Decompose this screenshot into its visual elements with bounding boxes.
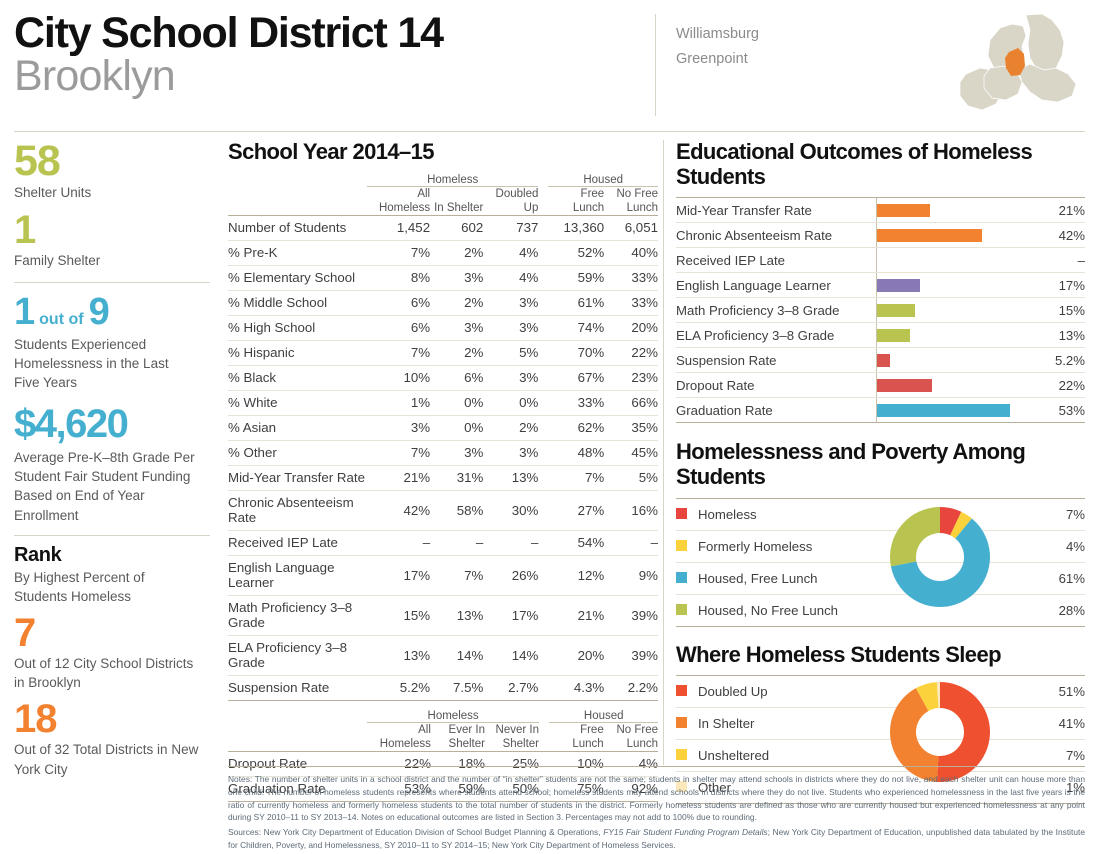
one-out-of-connector: out of [39,311,83,329]
one-out-of-label: Students Experienced Homelessness in the… [14,335,189,392]
bar [877,229,982,242]
bar-baseline [876,323,877,347]
legend-label: Housed, No Free Lunch [698,594,878,626]
table-row: % Asian3%0%2%62%35% [228,415,658,440]
table-cell: 7% [430,555,483,595]
right-charts-column: Educational Outcomes of Homeless Student… [676,140,1085,804]
bar-baseline [876,198,877,222]
table-group-header-row: Homeless Housed [228,174,658,186]
bar-label: Dropout Rate [676,373,876,398]
table-gap [538,415,548,440]
bar-label: Received IEP Late [676,248,876,273]
table-cell: – [430,530,483,555]
legend-label: Housed, Free Lunch [698,562,878,594]
legend-row: In Shelter41% [676,708,1085,740]
row-label: % Pre-K [228,240,367,265]
one-out-of-numerator: 1 [14,291,34,334]
legend-swatch-icon [676,717,687,728]
table-cell: 0% [483,390,538,415]
educational-outcomes-heading: Educational Outcomes of Homeless Student… [676,140,1085,189]
bar-cell [876,348,1034,373]
table-gap [538,315,548,340]
legend-spacer [878,676,1033,708]
group-header-homeless-2: Homeless [367,710,539,722]
bar-cell [876,223,1034,248]
one-out-of-denominator: 9 [89,291,109,334]
table-cell: 67% [548,365,604,390]
table-row: Mid-Year Transfer Rate21%31%13%7%5% [228,465,658,490]
borough-subtitle: Brooklyn [14,54,443,99]
table-cell: 2.2% [604,675,658,700]
notes-rule [228,766,1085,767]
table-cell: 10% [367,365,430,390]
legend-swatch-icon [676,540,687,551]
row-label: % Black [228,365,367,390]
table-row: % Pre-K7%2%4%52%40% [228,240,658,265]
table-cell: 33% [604,290,658,315]
row-label: Received IEP Late [228,530,367,555]
table-cell: 39% [604,635,658,675]
sources-italic-title: FY15 Fair Student Funding Program Detail… [603,827,767,837]
bar-cell [876,373,1034,398]
table-cell: 6,051 [604,215,658,240]
col-free-lunch: Free Lunch [548,187,604,216]
table-cell: 74% [548,315,604,340]
header-vertical-divider [655,14,656,116]
bar-cell [876,273,1034,298]
bar-cell [876,248,1034,273]
row-label: % Hispanic [228,340,367,365]
table-gap [538,290,548,315]
table-cell: 7% [367,440,430,465]
table-cell: 40% [604,240,658,265]
rank-block: Rank By Highest Percent of Students Home… [14,544,210,779]
table-gap [538,595,548,635]
bar-chart-row: Dropout Rate22% [676,373,1085,398]
col2-all-homeless: All Homeless [367,723,431,752]
row-label: % White [228,390,367,415]
table-row: Chronic Absenteeism Rate42%58%30%27%16% [228,490,658,530]
table-cell: 39% [604,595,658,635]
row-label: Chronic Absenteeism Rate [228,490,367,530]
table-cell: 0% [430,415,483,440]
bar-label: ELA Proficiency 3–8 Grade [676,323,876,348]
legend-value: 7% [1033,498,1085,530]
bar-value: 21% [1034,198,1085,223]
table-cell: 602 [430,215,483,240]
table-cell: 15% [367,595,430,635]
table-section-heading: School Year 2014–15 [228,140,658,165]
bar-chart-row: Suspension Rate5.2% [676,348,1085,373]
notes-sources: Sources: New York City Department of Edu… [228,826,1085,852]
legend-label: Homeless [698,498,878,530]
shelter-units-value: 58 [14,140,210,182]
table-cell: 0% [430,390,483,415]
table-cell: 3% [367,415,430,440]
table-cell: 59% [548,265,604,290]
bar-cell [876,323,1034,348]
legend-spacer [878,530,1033,562]
table-cell: 12% [548,555,604,595]
stat-funding: $4,620 Average Pre-K–8th Grade Per Stude… [14,402,210,525]
table-cell: 7.5% [430,675,483,700]
col-in-shelter: In Shelter [430,187,483,216]
funding-label: Average Pre-K–8th Grade Per Student Fair… [14,448,206,525]
table-gap [538,365,548,390]
table-cell: 7% [367,340,430,365]
borough-rank-value: 7 [14,613,210,653]
legend-swatch-icon [676,604,687,615]
table-cell: 16% [604,490,658,530]
legend-row: Homeless7% [676,498,1085,530]
table-cell: 13% [483,465,538,490]
table-cell: – [367,530,430,555]
table-cell: 21% [548,595,604,635]
page-title: City School District 14 [14,12,443,56]
table-row: % Hispanic7%2%5%70%22% [228,340,658,365]
table-cell: 3% [430,265,483,290]
table-cell: 1,452 [367,215,430,240]
stat-one-out-of-nine: 1 out of 9 Students Experienced Homeless… [14,291,210,392]
table-gap [538,675,548,700]
table-gap [538,465,548,490]
table-row: Math Proficiency 3–8 Grade15%13%17%21%39… [228,595,658,635]
table-gap [538,440,548,465]
legend-swatch-cell [676,594,698,626]
legend-swatch-cell [676,708,698,740]
table-cell: 62% [548,415,604,440]
legend-swatch-icon [676,749,687,760]
column-divider [663,140,664,765]
table-cell: 13% [367,635,430,675]
bar-cell [876,198,1034,223]
bar-value: 22% [1034,373,1085,398]
bar [877,204,930,217]
bar-chart-row: ELA Proficiency 3–8 Grade13% [676,323,1085,348]
bar-cell [876,298,1034,323]
bar-baseline [876,248,877,272]
group-header-housed: Housed [548,174,658,186]
legend-swatch-icon [676,508,687,519]
legend-row: Doubled Up51% [676,676,1085,708]
bar-label: Chronic Absenteeism Rate [676,223,876,248]
row-label: Suspension Rate [228,675,367,700]
table-gap [538,635,548,675]
table-cell: 21% [367,465,430,490]
homelessness-poverty-legend: Homeless7%Formerly Homeless4%Housed, Fre… [676,498,1085,627]
table-cell: 2.7% [483,675,538,700]
row-label: Math Proficiency 3–8 Grade [228,595,367,635]
legend-row: Housed, No Free Lunch28% [676,594,1085,626]
neighborhood-item: Greenpoint [676,47,759,72]
legend-value: 4% [1033,530,1085,562]
table-gap [538,265,548,290]
bar-chart-row: Math Proficiency 3–8 Grade15% [676,298,1085,323]
notes-block: Notes: The number of shelter units in a … [228,773,1085,852]
table-gap [538,490,548,530]
table-row: % Black10%6%3%67%23% [228,365,658,390]
table2-group-header-row: Homeless Housed [228,710,658,722]
left-divider-2 [14,535,210,536]
school-year-table-section: School Year 2014–15 Homeless Housed All [228,140,658,802]
legend-label: In Shelter [698,708,878,740]
row-label: Number of Students [228,215,367,240]
bar [877,329,910,342]
bar-value: 53% [1034,398,1085,423]
where-students-sleep-heading: Where Homeless Students Sleep [676,643,1085,668]
table-row: % High School6%3%3%74%20% [228,315,658,340]
legend-spacer [878,498,1033,530]
row-label: % Other [228,440,367,465]
bar [877,404,1010,417]
table-cell: 20% [604,315,658,340]
table-cell: 5% [483,340,538,365]
table-cell: 737 [483,215,538,240]
row-label: % Asian [228,415,367,440]
bar-value: 17% [1034,273,1085,298]
bar-baseline [876,223,877,247]
bar-value: 42% [1034,223,1085,248]
bar [877,354,890,367]
table-row: % White1%0%0%33%66% [228,390,658,415]
table-cell: 6% [430,365,483,390]
stat-shelter-units: 58 Shelter Units [14,140,210,202]
bar [877,304,915,317]
table-gap [538,555,548,595]
bar-label: Graduation Rate [676,398,876,423]
table-gap [538,240,548,265]
table-gap [538,215,548,240]
table-cell: 22% [604,340,658,365]
table-cell: 5.2% [367,675,430,700]
table-cell: 26% [483,555,538,595]
table-row: Number of Students1,45260273713,3606,051 [228,215,658,240]
row-label: % Elementary School [228,265,367,290]
col2-never-in-shelter: Never In Shelter [485,723,539,752]
legend-spacer [878,708,1033,740]
table-cell: 2% [430,240,483,265]
table-gap [538,340,548,365]
bar-chart-row: Chronic Absenteeism Rate42% [676,223,1085,248]
table-cell: 58% [430,490,483,530]
table-cell: 4% [483,240,538,265]
bar-value: 15% [1034,298,1085,323]
table-body-1: Number of Students1,45260273713,3606,051… [228,215,658,700]
table-cell: 4.3% [548,675,604,700]
table-cell: 17% [367,555,430,595]
table-cell: 3% [483,365,538,390]
row-label: % Middle School [228,290,367,315]
bar-label: Mid-Year Transfer Rate [676,198,876,223]
page-header: City School District 14 Brooklyn William… [0,0,1099,132]
table-cell: – [483,530,538,555]
table-cell: 17% [483,595,538,635]
col2-ever-in-shelter: Ever In Shelter [431,723,485,752]
nyc-map-icon [930,12,1085,127]
row-label: ELA Proficiency 3–8 Grade [228,635,367,675]
family-shelter-label: Family Shelter [14,251,210,270]
table-cell: 27% [548,490,604,530]
bar-baseline [876,348,877,372]
table-cell: 23% [604,365,658,390]
bar-chart-row: Mid-Year Transfer Rate21% [676,198,1085,223]
col-no-free-lunch: No Free Lunch [604,187,658,216]
bar-chart-row: English Language Learner17% [676,273,1085,298]
table-cell: 66% [604,390,658,415]
borough-rank-label: Out of 12 City School Districts in Brook… [14,654,200,692]
table-cell: 33% [604,265,658,290]
table-cell: 6% [367,315,430,340]
legend-spacer [878,594,1033,626]
table-cell: 3% [483,440,538,465]
col2-no-free-lunch: No Free Lunch [604,723,658,752]
neighborhood-item: Williamsburg [676,22,759,47]
bar [877,379,932,392]
educational-outcomes-bar-chart: Mid-Year Transfer Rate21%Chronic Absente… [676,197,1085,423]
group-header-housed-2: Housed [549,710,658,722]
legend-label: Doubled Up [698,676,878,708]
rank-title: Rank [14,544,210,567]
bar-value: 13% [1034,323,1085,348]
table-cell: 3% [483,290,538,315]
neighborhood-list: Williamsburg Greenpoint [676,22,759,73]
shelter-units-label: Shelter Units [14,183,210,202]
legend-swatch-icon [676,572,687,583]
row-label: % High School [228,315,367,340]
bar [877,279,920,292]
legend-value: 28% [1033,594,1085,626]
table-cell: 3% [483,315,538,340]
table-row: % Middle School6%2%3%61%33% [228,290,658,315]
table-cell: 14% [483,635,538,675]
table-cell: 4% [483,265,538,290]
legend-value: 41% [1033,708,1085,740]
bar-value: – [1034,248,1085,273]
table-row: English Language Learner17%7%26%12%9% [228,555,658,595]
homelessness-poverty-heading: Homelessness and Poverty Among Students [676,440,1085,489]
table-cell: 42% [367,490,430,530]
bar-cell [876,398,1034,423]
table-cell: 45% [604,440,658,465]
bar-baseline [876,398,877,422]
table-cell: 2% [483,415,538,440]
table-cell: 35% [604,415,658,440]
bar-label: Suspension Rate [676,348,876,373]
legend-row: Formerly Homeless4% [676,530,1085,562]
table-row: % Elementary School8%3%4%59%33% [228,265,658,290]
table-row: ELA Proficiency 3–8 Grade13%14%14%20%39% [228,635,658,675]
table-cell: – [604,530,658,555]
table-cell: 2% [430,340,483,365]
legend-label: Formerly Homeless [698,530,878,562]
table-cell: 48% [548,440,604,465]
table-cell: 5% [604,465,658,490]
bar-chart-row: Received IEP Late– [676,248,1085,273]
table-cell: 7% [367,240,430,265]
table-cell: 13,360 [548,215,604,240]
table-gap [538,530,548,555]
table-subheader-row-1: All Homeless In Shelter Doubled Up Free … [228,187,658,216]
bar-chart-row: Graduation Rate53% [676,398,1085,423]
table-cell: 3% [430,440,483,465]
sources-prefix: Sources: New York City Department of Edu… [228,827,603,837]
left-divider [14,282,210,283]
legend-value: 51% [1033,676,1085,708]
table-gap [538,390,548,415]
group-header-homeless: Homeless [367,174,538,186]
legend-swatch-cell [676,676,698,708]
notes-body: Notes: The number of shelter units in a … [228,773,1085,824]
family-shelter-value: 1 [14,211,210,250]
table-cell: 33% [548,390,604,415]
legend-swatch-icon [676,685,687,696]
table-cell: 30% [483,490,538,530]
table-cell: 9% [604,555,658,595]
table-cell: 6% [367,290,430,315]
header-horizontal-rule [14,131,1085,132]
table-row: Suspension Rate5.2%7.5%2.7%4.3%2.2% [228,675,658,700]
legend-swatch-cell [676,530,698,562]
table-row: % Other7%3%3%48%45% [228,440,658,465]
table-cell: 7% [548,465,604,490]
bar-label: English Language Learner [676,273,876,298]
table-cell: 3% [430,315,483,340]
city-rank-value: 18 [14,699,210,739]
table-cell: 13% [430,595,483,635]
table-cell: 2% [430,290,483,315]
table-cell: 20% [548,635,604,675]
bar-baseline [876,298,877,322]
legend-value: 61% [1033,562,1085,594]
table-cell: 14% [430,635,483,675]
legend-spacer [878,562,1033,594]
table-subheader-row-2: All Homeless Ever In Shelter Never In Sh… [228,723,658,752]
table-cell: 8% [367,265,430,290]
rank-subtitle: By Highest Percent of Students Homeless [14,568,194,606]
table-cell: 54% [548,530,604,555]
bar-baseline [876,273,877,297]
left-stats-column: 58 Shelter Units 1 Family Shelter 1 out … [14,140,210,779]
table-cell: 52% [548,240,604,265]
legend-row: Housed, Free Lunch61% [676,562,1085,594]
bar-value: 5.2% [1034,348,1085,373]
col-doubled-up: Doubled Up [483,187,538,216]
legend-swatch-cell [676,498,698,530]
legend-swatch-cell [676,562,698,594]
school-year-table-1: Homeless Housed All Homeless In Shelter … [228,174,658,701]
funding-value: $4,620 [14,402,210,447]
col2-free-lunch: Free Lunch [549,723,603,752]
col-all-homeless: All Homeless [367,187,430,216]
bar-baseline [876,373,877,397]
table-cell: 31% [430,465,483,490]
city-rank-label: Out of 32 Total Districts in New York Ci… [14,740,204,778]
stat-family-shelter: 1 Family Shelter [14,211,210,270]
table-cell: 70% [548,340,604,365]
table-cell: 1% [367,390,430,415]
table-cell: 61% [548,290,604,315]
row-label: Mid-Year Transfer Rate [228,465,367,490]
title-block: City School District 14 Brooklyn [14,12,443,99]
infographic-page: City School District 14 Brooklyn William… [0,0,1099,854]
table-row: Received IEP Late–––54%– [228,530,658,555]
bar-label: Math Proficiency 3–8 Grade [676,298,876,323]
row-label: English Language Learner [228,555,367,595]
